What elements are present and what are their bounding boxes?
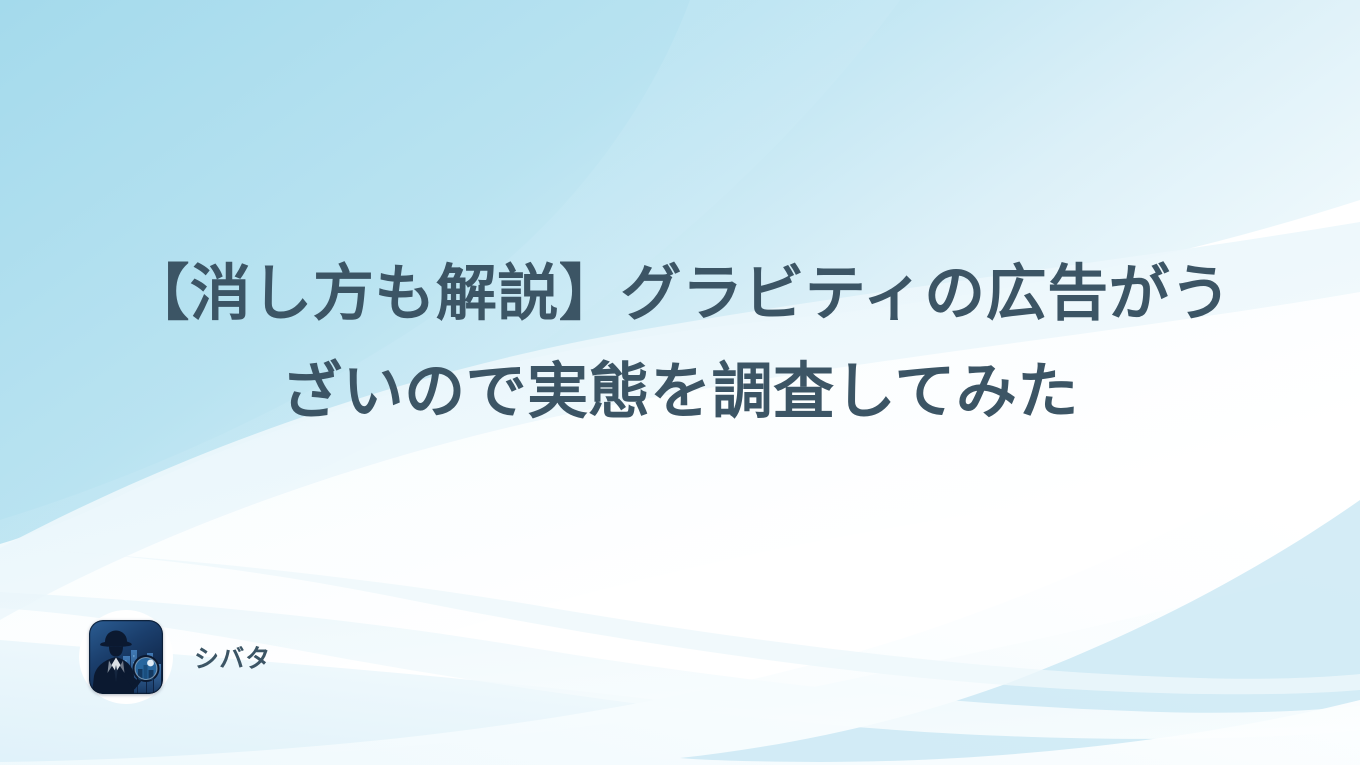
title-line-1: 【消し方も解説】グラビティの広告がう	[0, 244, 1360, 342]
detective-avatar-icon	[89, 620, 163, 694]
slide-canvas: 【消し方も解説】グラビティの広告がう ざいので実態を調査してみた	[0, 0, 1360, 765]
author-name: シバタ	[194, 639, 271, 675]
title-line-2: ざいので実態を調査してみた	[0, 342, 1360, 440]
avatar	[76, 607, 176, 707]
slide-title: 【消し方も解説】グラビティの広告がう ざいので実態を調査してみた	[0, 244, 1360, 440]
author-byline: シバタ	[76, 607, 271, 707]
